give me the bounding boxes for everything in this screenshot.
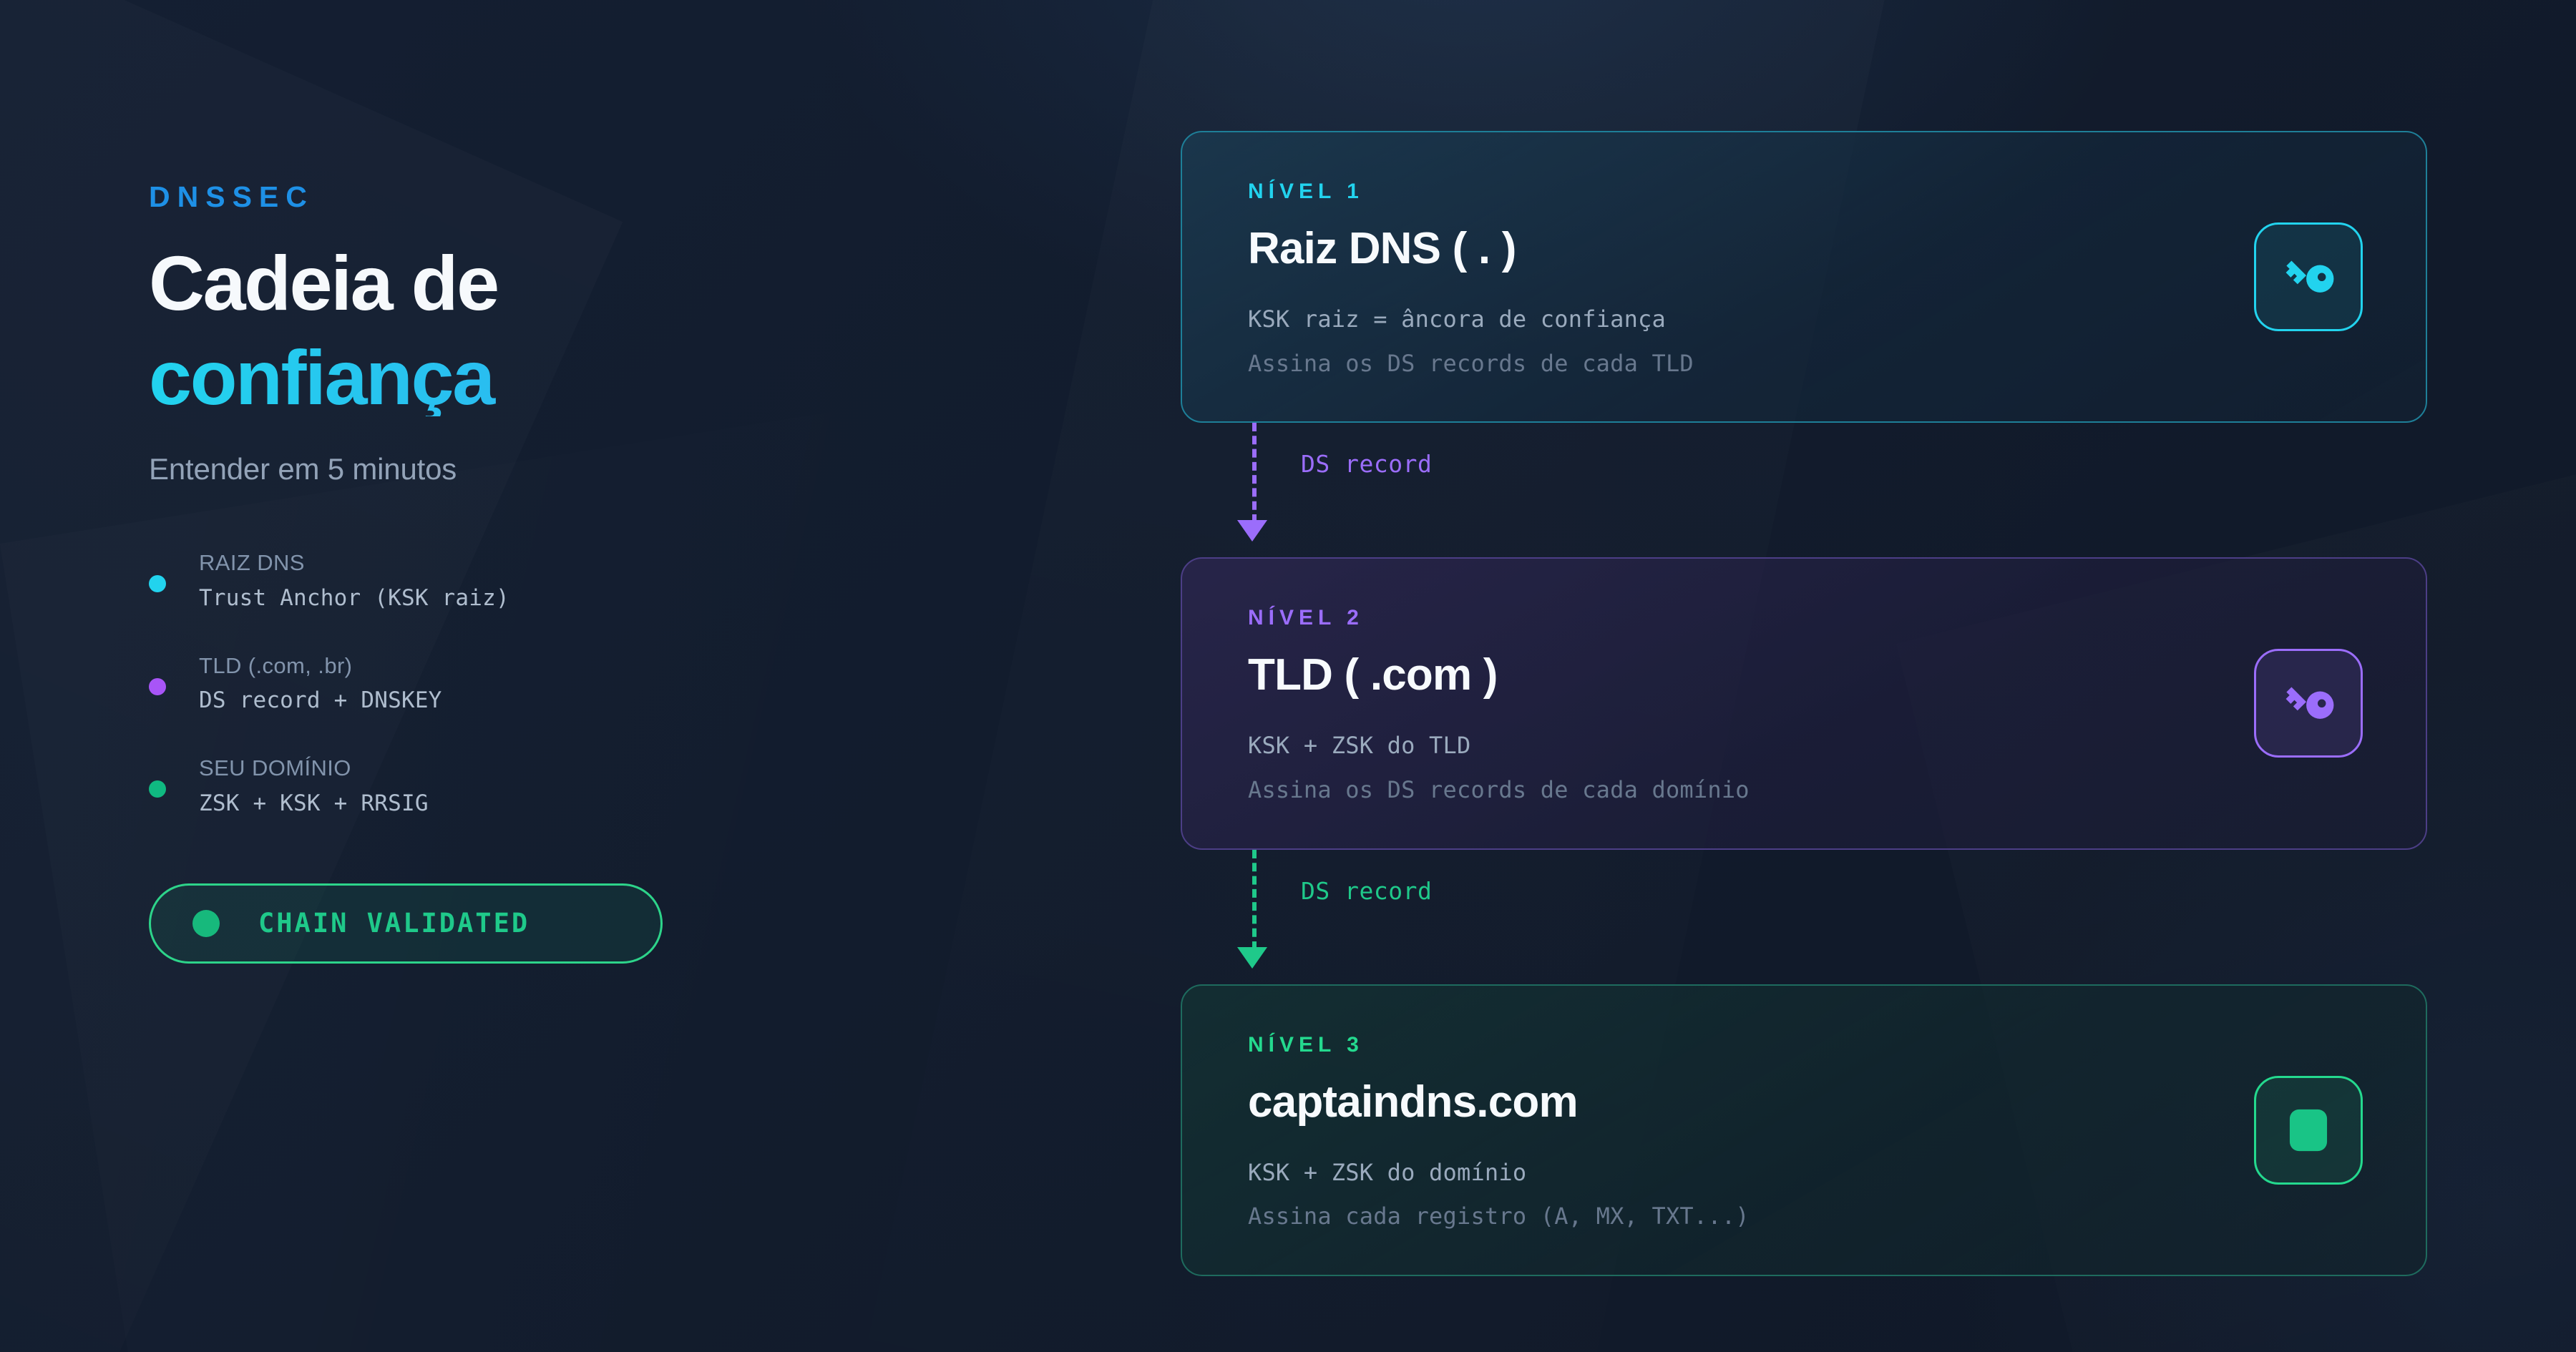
status-badge: CHAIN VALIDATED: [149, 883, 663, 964]
card-title: Raiz DNS ( . ): [1248, 225, 2371, 272]
bullet-dot-icon: [149, 575, 166, 592]
chain-card-level-1: NÍVEL 1 Raiz DNS ( . ) KSK raiz = âncora…: [1181, 131, 2427, 423]
bullet-dot-icon: [149, 678, 166, 695]
trust-chain: NÍVEL 1 Raiz DNS ( . ) KSK raiz = âncora…: [1181, 131, 2427, 1276]
arrow-down-icon: [1237, 520, 1267, 542]
eyebrow-label: DNSSEC: [149, 182, 1079, 212]
fact-list: RAIZ DNS Trust Anchor (KSK raiz) TLD (.c…: [149, 549, 793, 818]
key-icon: [2275, 244, 2341, 310]
card-title: captaindns.com: [1248, 1079, 2371, 1125]
connector-level-2-to-3: DS record: [1181, 850, 2427, 984]
arrow-down-icon: [1237, 947, 1267, 969]
fact-title: RAIZ DNS: [199, 549, 793, 577]
fact-title: TLD (.com, .br): [199, 652, 793, 680]
list-item: SEU DOMÍNIO ZSK + KSK + RRSIG: [149, 755, 793, 818]
list-item: TLD (.com, .br) DS record + DNSKEY: [149, 652, 793, 715]
card-icon-badge: [2254, 1076, 2363, 1185]
connector-level-1-to-2: DS record: [1181, 423, 2427, 557]
intro-panel: DNSSEC Cadeia de confiança Entender em 5…: [149, 182, 1079, 964]
fact-title: SEU DOMÍNIO: [199, 755, 793, 783]
card-description-primary: KSK raiz = âncora de confiança: [1248, 305, 2371, 335]
card-icon-badge: [2254, 222, 2363, 331]
status-dot-icon: [192, 910, 220, 937]
card-description-secondary: Assina os DS records de cada TLD: [1248, 349, 2371, 379]
list-item: RAIZ DNS Trust Anchor (KSK raiz): [149, 549, 793, 612]
card-icon-badge: [2254, 649, 2363, 758]
connector-line: [1252, 850, 1257, 950]
card-description-secondary: Assina cada registro (A, MX, TXT...): [1248, 1202, 2371, 1232]
status-badge-label: CHAIN VALIDATED: [258, 908, 530, 939]
card-description-secondary: Assina os DS records de cada domínio: [1248, 775, 2371, 805]
page-title-line-2: confiança: [149, 339, 1079, 416]
level-label: NÍVEL 1: [1248, 181, 2371, 202]
page-title-line-1: Cadeia de: [149, 245, 1079, 322]
page-title: Cadeia de confiança: [149, 245, 1079, 416]
connector-line: [1252, 423, 1257, 523]
key-icon: [2275, 670, 2341, 736]
card-description-primary: KSK + ZSK do domínio: [1248, 1158, 2371, 1188]
card-description-primary: KSK + ZSK do TLD: [1248, 731, 2371, 761]
connector-label: DS record: [1301, 877, 1432, 905]
chain-card-level-2: NÍVEL 2 TLD ( .com ) KSK + ZSK do TLD As…: [1181, 557, 2427, 849]
card-title: TLD ( .com ): [1248, 652, 2371, 698]
fact-value: Trust Anchor (KSK raiz): [199, 584, 793, 612]
bullet-dot-icon: [149, 780, 166, 798]
connector-label: DS record: [1301, 450, 1432, 478]
level-label: NÍVEL 2: [1248, 607, 2371, 629]
page-subtitle: Entender em 5 minutos: [149, 452, 1079, 486]
shield-block-icon: [2275, 1097, 2341, 1163]
fact-value: DS record + DNSKEY: [199, 687, 793, 715]
fact-value: ZSK + KSK + RRSIG: [199, 790, 793, 818]
level-label: NÍVEL 3: [1248, 1034, 2371, 1056]
chain-card-level-3: NÍVEL 3 captaindns.com KSK + ZSK do domí…: [1181, 984, 2427, 1276]
